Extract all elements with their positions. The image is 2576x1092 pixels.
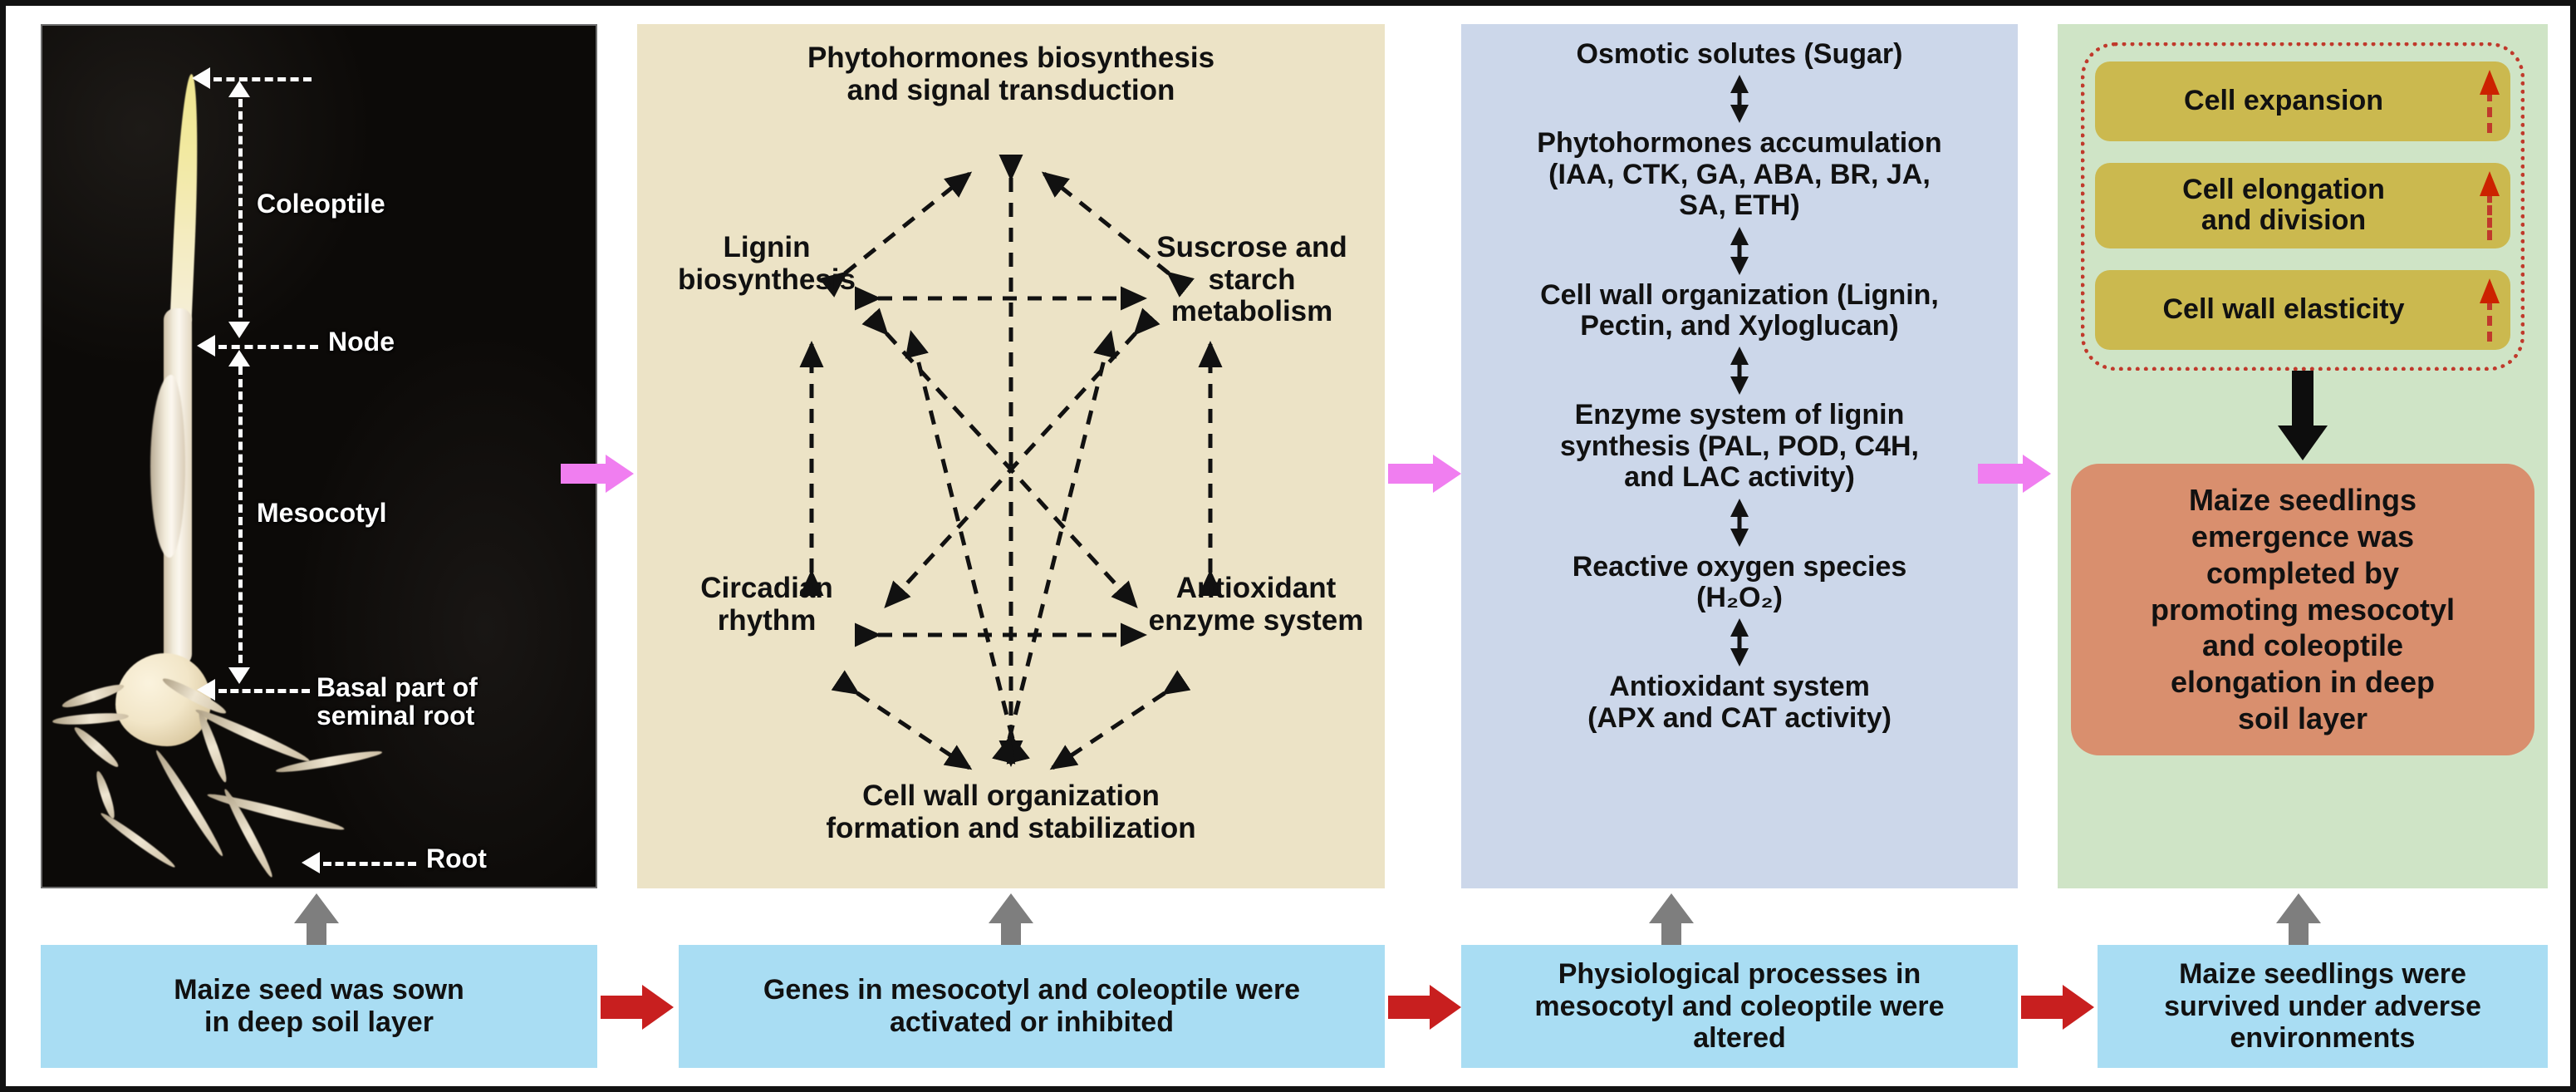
cell-growth-group: Cell expansion Cell elongation and divis… [2081, 42, 2524, 371]
node-arrowhead [197, 335, 215, 357]
root-arrowhead [302, 852, 320, 873]
outcome-result-box: Maize seedlings emergence was completed … [2071, 464, 2534, 755]
coleoptile-span-line [238, 99, 243, 330]
outcome-box-cell-wall-elasticity: Cell wall elasticity [2095, 270, 2510, 350]
basal-root-arrowhead [197, 679, 215, 701]
arrow-shaft [1388, 464, 1435, 484]
arrow-head [1433, 455, 1461, 493]
box-label: Physiological processes in mesocotyl and… [1534, 958, 1944, 1055]
seedling-photo-panel: Coleoptile Node Mesocotyl Basal part of … [41, 24, 597, 888]
photo-label-basal-part-of-seminal-root: Basal part of seminal root [316, 674, 478, 730]
pink-flow-arrow-2 [1388, 455, 1461, 493]
basal-root-leader [218, 689, 310, 693]
node-leader [218, 345, 318, 349]
bottom-box-seedlings-survived: Maize seedlings were survived under adve… [2098, 945, 2548, 1068]
box-label: Maize seed was sown in deep soil layer [174, 974, 464, 1039]
pink-flow-arrow-1 [561, 455, 634, 493]
photo-background [42, 26, 596, 887]
mesocotyl-span-arrow-down [228, 667, 250, 684]
arrow-head [2063, 985, 2094, 1030]
pink-flow-arrow-3 [1978, 455, 2051, 493]
physiological-chain-panel: Osmotic solutes (Sugar) Phytohormones ac… [1461, 24, 2018, 888]
increase-arrow-icon [2480, 278, 2499, 342]
increase-arrow-icon [2480, 171, 2499, 240]
outcome-panel: Cell expansion Cell elongation and divis… [2058, 24, 2548, 888]
red-flow-arrow-3 [2021, 985, 2094, 1030]
red-flow-arrow-1 [601, 985, 674, 1030]
arrow-head [642, 985, 674, 1030]
arrow-stem [2292, 371, 2313, 430]
chain-bidirectional-arrow [1729, 227, 1750, 275]
bottom-box-genes-activated-or-inhibited: Genes in mesocotyl and coleoptile were a… [679, 945, 1385, 1068]
box-label: Cell wall elasticity [2162, 294, 2404, 325]
molecular-network-panel: Phytohormones biosynthesis and signal tr… [637, 24, 1385, 888]
photo-label-coleoptile: Coleoptile [257, 190, 385, 219]
arrow-shaft [1388, 996, 1431, 1019]
net-node-sucrose-starch-metabolism: Suscrose and starch metabolism [1127, 232, 1376, 328]
arrow-shaft [2021, 996, 2064, 1019]
arrow-head [606, 455, 634, 493]
arrow-head [1430, 985, 1461, 1030]
chain-bidirectional-arrow [1729, 499, 1750, 547]
outcome-box-cell-expansion: Cell expansion [2095, 61, 2510, 141]
black-down-arrow-icon [2071, 371, 2534, 464]
chain-item-enzyme-system-lignin-synthesis: Enzyme system of lignin synthesis (PAL, … [1470, 400, 2009, 493]
figure-root: Coleoptile Node Mesocotyl Basal part of … [0, 0, 2576, 1092]
arrow-shaft [561, 464, 607, 484]
mesocotyl-span-line [238, 366, 243, 676]
network-connector-lines [637, 24, 1385, 888]
chain-item-phytohormones-accumulation: Phytohormones accumulation (IAA, CTK, GA… [1470, 128, 2009, 221]
mesocotyl-bend [150, 375, 185, 558]
photo-label-mesocotyl: Mesocotyl [257, 499, 386, 528]
outcome-box-cell-elongation-and-division: Cell elongation and division [2095, 163, 2510, 248]
net-node-phytohormones-biosynthesis: Phytohormones biosynthesis and signal tr… [670, 42, 1352, 106]
chain-bidirectional-arrow [1729, 618, 1750, 667]
chain-item-antioxidant-system: Antioxidant system (APX and CAT activity… [1470, 671, 2009, 734]
mesocotyl-span-arrow-up [228, 350, 250, 366]
arrow-shaft [601, 996, 644, 1019]
chain-bidirectional-arrow [1729, 75, 1750, 123]
chain-item-reactive-oxygen-species: Reactive oxygen species (H₂O₂) [1470, 552, 2009, 614]
chain-item-osmotic-solutes: Osmotic solutes (Sugar) [1470, 39, 2009, 70]
box-label: Genes in mesocotyl and coleoptile were a… [763, 974, 1300, 1039]
net-node-lignin-biosynthesis: Lignin biosynthesis [650, 232, 883, 296]
photo-label-root: Root [426, 845, 487, 873]
arrow-shaft [1978, 464, 2024, 484]
box-label: Cell expansion [2184, 86, 2383, 116]
coleoptile-span-arrow-down [228, 322, 250, 338]
arrow-head [2023, 455, 2051, 493]
coleoptile-span-arrow-up [228, 81, 250, 97]
chain-item-cell-wall-organization: Cell wall organization (Lignin, Pectin, … [1470, 280, 2009, 342]
box-label: Maize seedlings were survived under adve… [2164, 958, 2481, 1055]
net-node-antioxidant-enzyme-system: Antioxidant enzyme system [1136, 573, 1376, 637]
increase-arrow-icon [2480, 70, 2499, 133]
root-leader [323, 862, 416, 866]
bottom-box-maize-seed-sown: Maize seed was sown in deep soil layer [41, 945, 597, 1068]
net-node-circadian-rhythm: Circadian rhythm [650, 573, 883, 637]
chain-bidirectional-arrow [1729, 347, 1750, 395]
coleoptile-top-arrowhead [192, 67, 210, 89]
net-node-cell-wall-organization: Cell wall organization formation and sta… [662, 780, 1360, 844]
arrow-head [2278, 425, 2328, 460]
bottom-box-physiological-processes-altered: Physiological processes in mesocotyl and… [1461, 945, 2018, 1068]
red-flow-arrow-2 [1388, 985, 1461, 1030]
box-label: Cell elongation and division [2182, 175, 2385, 237]
photo-label-node: Node [328, 328, 395, 357]
